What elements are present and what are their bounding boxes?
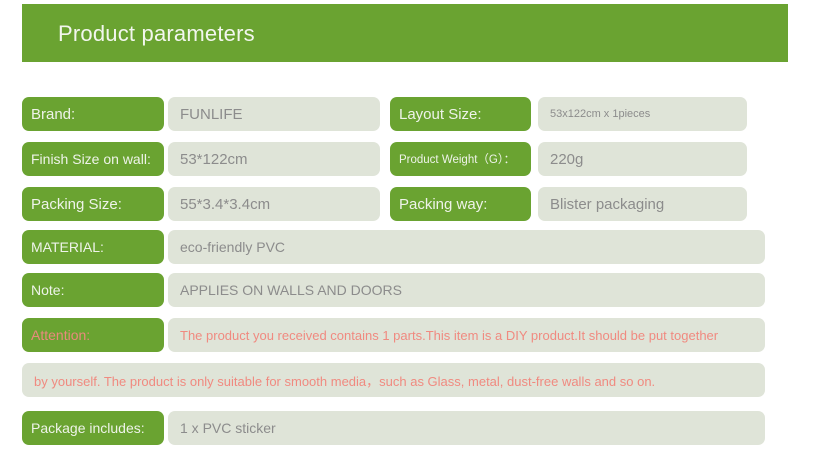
value-brand: FUNLIFE [168,97,380,131]
page-title: Product parameters [58,21,255,47]
value-package-includes: 1 x PVC sticker [168,411,765,445]
value-product-weight: 220g [538,142,747,176]
value-note: APPLIES ON WALLS AND DOORS [168,273,765,307]
value-attention-line-1: The product you received contains 1 part… [168,318,765,352]
product-parameters-page: Product parameters Brand: FUNLIFE Layout… [0,0,821,451]
label-material: MATERIAL: [22,230,164,264]
label-finish-size-on-wall: Finish Size on wall: [22,142,164,176]
label-layout-size: Layout Size: [390,97,531,131]
label-note: Note: [22,273,164,307]
label-packing-way: Packing way: [390,187,531,221]
value-attention-line-2: by yourself. The product is only suitabl… [22,363,765,397]
value-layout-size: 53x122cm x 1pieces [538,97,747,131]
label-attention: Attention: [22,318,164,352]
label-packing-size: Packing Size: [22,187,164,221]
value-material: eco-friendly PVC [168,230,765,264]
value-packing-way: Blister packaging [538,187,747,221]
label-brand: Brand: [22,97,164,131]
value-finish-size-on-wall: 53*122cm [168,142,380,176]
label-package-includes: Package includes: [22,411,164,445]
header-banner: Product parameters [22,4,788,62]
value-packing-size: 55*3.4*3.4cm [168,187,380,221]
label-product-weight: Product Weight（G）： [390,142,531,176]
